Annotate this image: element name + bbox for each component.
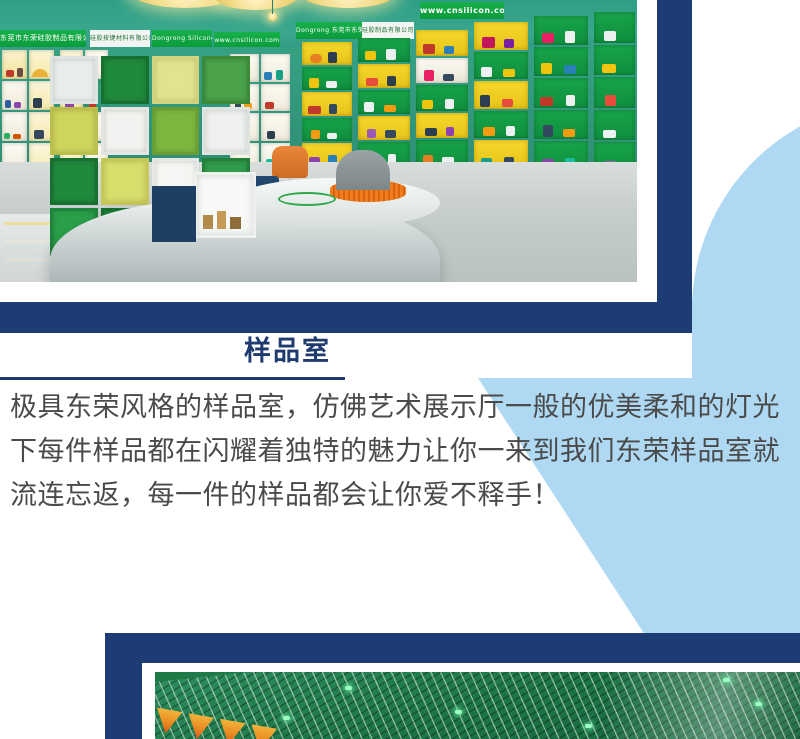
page-title: 样品室 — [0, 338, 575, 365]
light-spark-icon — [723, 678, 730, 682]
light-spark-icon — [345, 686, 352, 690]
display-cabinet — [300, 40, 354, 168]
top-photo-frame: 东莞市东荣硅胶制品有限公司 硅胶按键材料有限公司 Dongrong Silico… — [0, 0, 657, 302]
wall-sign: www.cnsilicon.com — [420, 2, 504, 19]
display-cabinet — [472, 20, 530, 170]
showroom-photo: 东莞市东荣硅胶制品有限公司 硅胶按键材料有限公司 Dongrong Silico… — [0, 0, 637, 282]
orange-stool — [272, 146, 308, 178]
wall-sign: 东莞市东荣硅胶制品有限公司 — [0, 30, 86, 47]
section-paragraph: 极具东荣风格的样品室，仿佛艺术展示厅一般的优美柔和的灯光下每件样品都在闪耀着独特… — [10, 386, 790, 518]
display-cabinet — [356, 36, 412, 168]
light-spark-icon — [455, 710, 462, 714]
display-cabinet — [414, 28, 470, 168]
display-cabinet — [592, 10, 637, 175]
counter-hood — [336, 150, 390, 190]
display-cabinet — [532, 14, 590, 172]
light-spark-icon — [755, 702, 762, 706]
mesh-highlight — [607, 672, 800, 739]
wall-sign: Dongrong Silicone Products Co., Ltd. — [152, 30, 212, 47]
decor-navy-horizontal-bar — [0, 302, 692, 333]
decor-navy-vertical-bar — [657, 0, 692, 333]
dark-chair-back — [152, 186, 196, 242]
page-root: 东莞市东荣硅胶制品有限公司 硅胶按键材料有限公司 Dongrong Silico… — [0, 0, 800, 739]
light-spark-icon — [585, 724, 592, 728]
light-spark-icon — [283, 716, 290, 720]
showcase-box — [194, 172, 256, 238]
pennant-flag-icon — [155, 708, 183, 736]
pennant-flag-icon — [216, 719, 246, 739]
mesh-ceiling-photo — [155, 672, 800, 739]
display-cabinet — [0, 48, 56, 174]
pennant-flag-icon — [184, 713, 214, 739]
bottom-photo-frame — [142, 663, 800, 739]
lamp-cord — [272, 0, 273, 14]
wall-sign: 硅胶按键材料有限公司 — [90, 30, 150, 47]
title-divider — [0, 377, 345, 380]
green-silicone-cord — [278, 192, 336, 206]
